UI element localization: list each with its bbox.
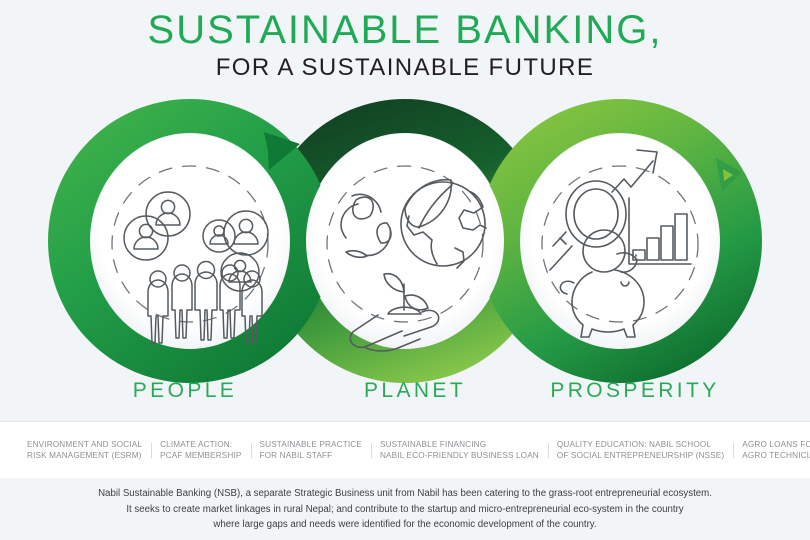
footer-item-esrm: ENVIRONMENT AND SOCIAL RISK MANAGEMENT (… <box>18 439 151 462</box>
footer-item-text: ENVIRONMENT AND SOCIAL RISK MANAGEMENT (… <box>27 440 142 461</box>
pillar-labels: PEOPLE PLANET PROSPERITY <box>0 378 810 408</box>
footer-separator <box>151 443 152 458</box>
footer-paragraph-line-2: It seeks to create market linkages in ru… <box>40 502 770 518</box>
pillar-label-prosperity: PROSPERITY <box>505 378 765 404</box>
footer-paragraph-line-1: Nabil Sustainable Banking (NSB), a separ… <box>40 486 770 502</box>
footer-separator <box>371 443 372 458</box>
loop-svg <box>0 96 810 386</box>
pillar-label-people: PEOPLE <box>55 378 315 404</box>
footer-item-text: SUSTAINABLE FINANCING NABIL ECO-FRIENDLY… <box>380 440 539 461</box>
page-title: SUSTAINABLE BANKING, <box>0 8 810 52</box>
footer-item-text: CLIMATE ACTION: PCAF MEMBERSHIP <box>160 440 241 461</box>
footer-separator <box>733 443 734 458</box>
footer-separator <box>548 443 549 458</box>
footer-item-text: AGRO LOANS FOR AGRO TECHNICIANS <box>742 440 810 461</box>
footer-paragraph-line-3: where large gaps and needs were identifi… <box>40 517 770 533</box>
footer-item-sustainable-practice: SUSTAINABLE PRACTICE FOR NABIL STAFF <box>251 439 371 462</box>
footer-item-text: SUSTAINABLE PRACTICE FOR NABIL STAFF <box>260 440 362 461</box>
footer-item-sustainable-financing: SUSTAINABLE FINANCING NABIL ECO-FRIENDLY… <box>371 439 548 462</box>
infinity-loop-graphic <box>0 96 810 386</box>
infographic-page: SUSTAINABLE BANKING, FOR A SUSTAINABLE F… <box>0 0 810 540</box>
footer-paragraph: Nabil Sustainable Banking (NSB), a separ… <box>0 486 810 533</box>
page-subtitle: FOR A SUSTAINABLE FUTURE <box>0 54 810 82</box>
header: SUSTAINABLE BANKING, FOR A SUSTAINABLE F… <box>0 8 810 82</box>
footer-item-climate-action: CLIMATE ACTION: PCAF MEMBERSHIP <box>151 439 250 462</box>
footer-initiatives-list: ENVIRONMENT AND SOCIAL RISK MANAGEMENT (… <box>0 422 810 478</box>
footer-item-agro-loans: AGRO LOANS FOR AGRO TECHNICIANS <box>733 439 810 462</box>
footer-item-text: QUALITY EDUCATION: NABIL SCHOOL OF SOCIA… <box>557 440 724 461</box>
footer-item-quality-education: QUALITY EDUCATION: NABIL SCHOOL OF SOCIA… <box>548 439 733 462</box>
footer-separator <box>251 443 252 458</box>
